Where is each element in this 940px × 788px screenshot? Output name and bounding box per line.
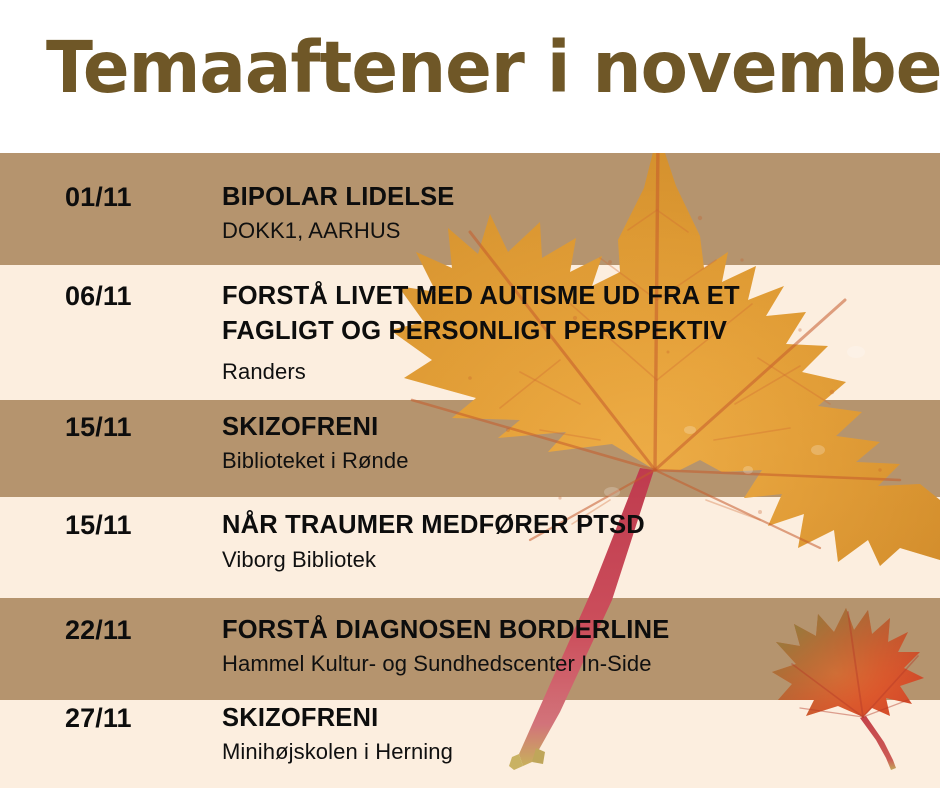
- page-title: Temaaftener i november: [46, 26, 940, 110]
- event-date: 27/11: [65, 703, 132, 734]
- stripe-row-6: [0, 700, 940, 788]
- event-date: 06/11: [65, 281, 132, 312]
- event-location: DOKK1, AARHUS: [222, 217, 401, 244]
- event-date: 15/11: [65, 510, 132, 541]
- event-title: NÅR TRAUMER MEDFØRER PTSD: [222, 509, 645, 542]
- poster-canvas: Temaaftener i november 01/11 BIPOLAR LID…: [0, 0, 940, 788]
- event-title: SKIZOFRENI: [222, 411, 378, 444]
- event-location: Hammel Kultur- og Sundhedscenter In-Side: [222, 650, 652, 677]
- event-location: Viborg Bibliotek: [222, 546, 376, 573]
- event-location: Minihøjskolen i Herning: [222, 738, 453, 765]
- event-title-line-1: FORSTÅ LIVET MED AUTISME UD FRA ET: [222, 280, 740, 313]
- stripe-row-3: [0, 400, 940, 497]
- event-date: 01/11: [65, 182, 132, 213]
- event-location: Randers: [222, 358, 306, 385]
- title-bar: Temaaftener i november: [0, 0, 940, 153]
- event-location: Biblioteket i Rønde: [222, 447, 409, 474]
- event-title: BIPOLAR LIDELSE: [222, 181, 455, 214]
- event-title-line-2: FAGLIGT OG PERSONLIGT PERSPEKTIV: [222, 315, 727, 348]
- event-stripes: [0, 153, 940, 788]
- stripe-row-1: [0, 153, 940, 265]
- event-title: SKIZOFRENI: [222, 702, 378, 735]
- event-title: FORSTÅ DIAGNOSEN BORDERLINE: [222, 614, 669, 647]
- event-date: 22/11: [65, 615, 132, 646]
- event-date: 15/11: [65, 412, 132, 443]
